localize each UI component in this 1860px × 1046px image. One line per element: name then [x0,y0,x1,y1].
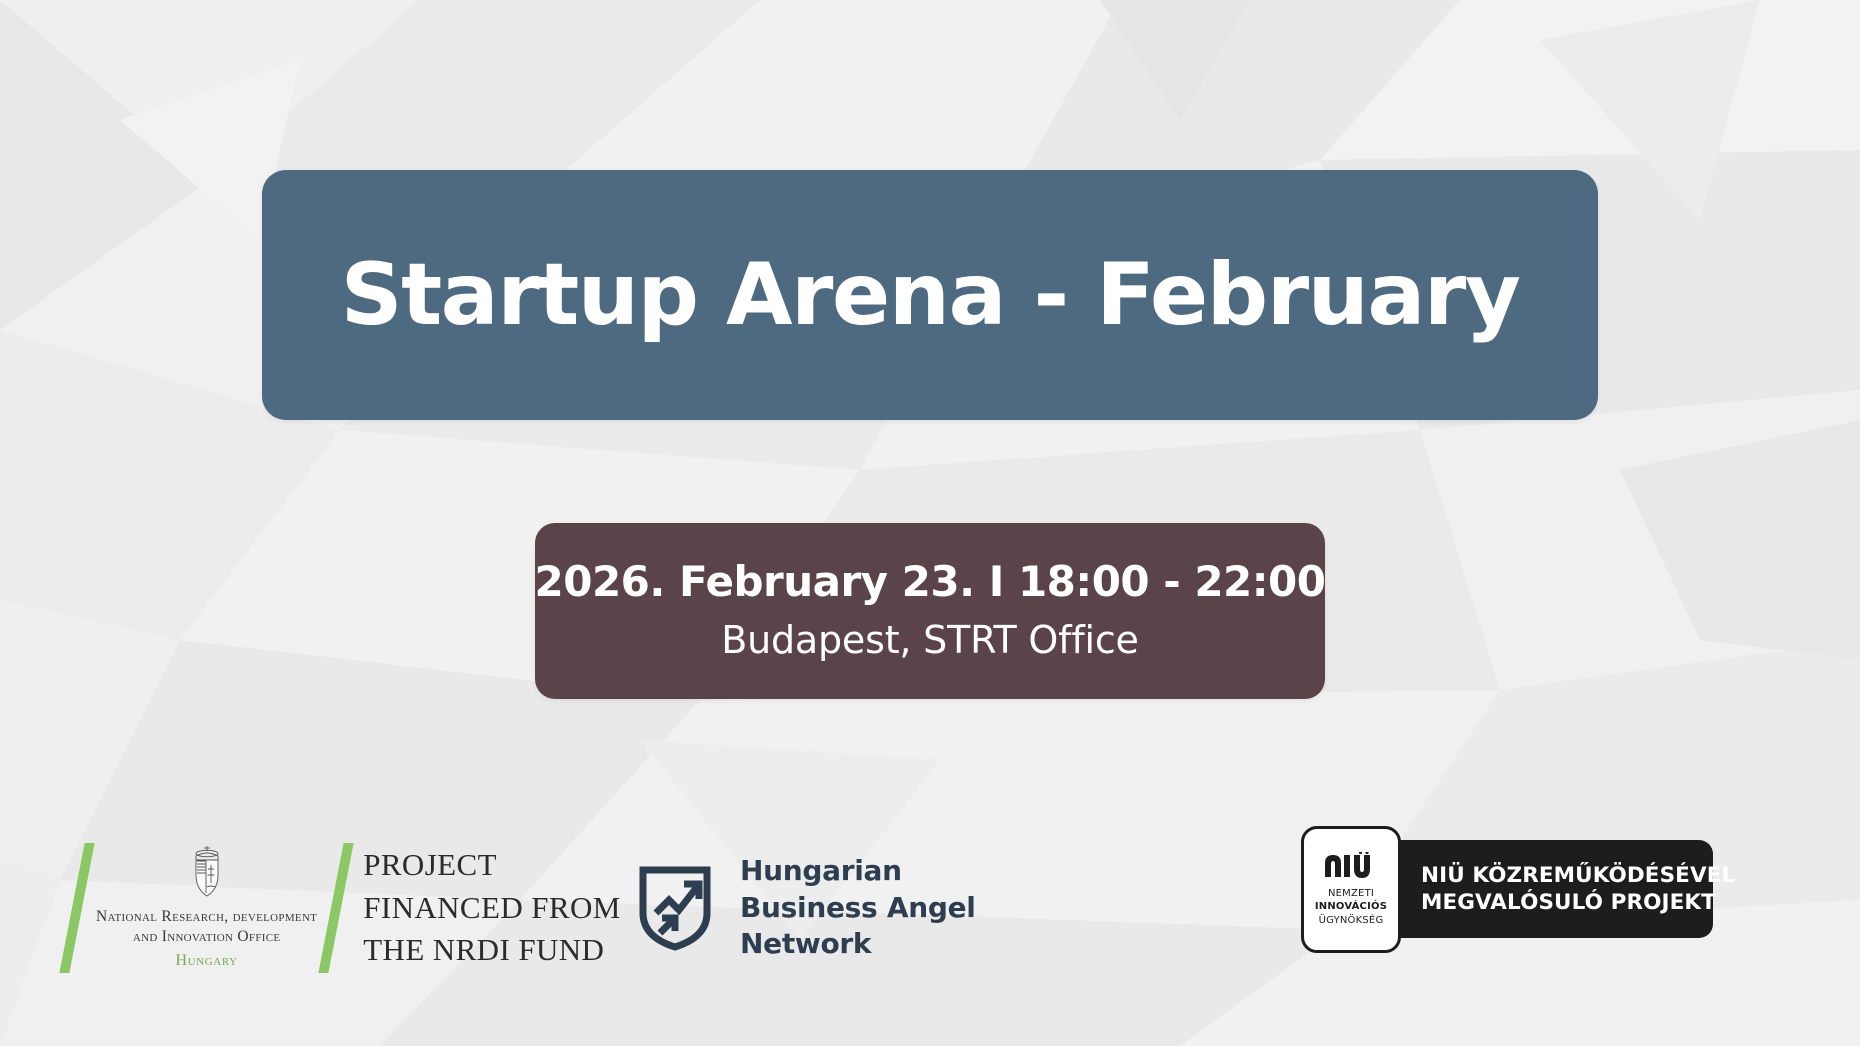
event-venue: Budapest, STRT Office [721,618,1138,664]
shield-growth-arrow-icon [638,865,712,951]
nrdi-office-logo: National Research, development and Innov… [72,828,572,988]
hban-line-3: Network [740,926,976,963]
nrdi-name-line-1: National Research, development [96,907,317,927]
hban-line-2: Business Angel [740,890,976,927]
niu-card-line-2: INNOVÁCIÓS [1315,900,1387,913]
sponsor-logo-strip: National Research, development and Innov… [0,818,1860,1008]
green-slash-icon-2 [319,843,354,973]
event-datetime: 2026. February 23. I 18:00 - 22:00 [535,558,1326,606]
fund-line-1: PROJECT [363,844,621,887]
niu-project-lockup: NIÜ KÖZREMŰKÖDÉSÉVEL MEGVALÓSULÓ PROJEKT… [1301,826,1713,953]
nrdi-logo-center: National Research, development and Innov… [96,843,317,972]
hban-line-1: Hungarian [740,853,976,890]
niu-wordmark-icon [1323,852,1379,878]
title-banner: Startup Arena - February [262,170,1598,420]
niu-bar-line-2: MEGVALÓSULÓ PROJEKT [1421,889,1716,916]
event-info-box: 2026. February 23. I 18:00 - 22:00 Budap… [535,523,1325,699]
niu-agency-card: NEMZETI INNOVÁCIÓS ÜGYNÖKSÉG [1301,826,1401,953]
hban-name-block: Hungarian Business Angel Network [740,853,976,964]
hungarian-coat-of-arms-icon [190,843,224,899]
nrdi-country-label: Hungary [175,950,237,972]
niu-project-bar: NIÜ KÖZREMŰKÖDÉSÉVEL MEGVALÓSULÓ PROJEKT [1385,840,1713,938]
fund-line-2: FINANCED FROM [363,887,621,930]
nrdi-fund-statement: PROJECT FINANCED FROM THE NRDI FUND [363,844,621,972]
hungarian-business-angel-network-logo: Hungarian Business Angel Network [638,838,976,978]
event-poster: Startup Arena - February 2026. February … [0,0,1860,1046]
page-title: Startup Arena - February [341,252,1520,338]
niu-bar-line-1: NIÜ KÖZREMŰKÖDÉSÉVEL [1421,862,1735,889]
niu-card-line-3: ÜGYNÖKSÉG [1319,914,1384,927]
fund-line-3: THE NRDI FUND [363,929,621,972]
nrdi-name-line-2: and Innovation Office [133,927,281,947]
niu-card-line-1: NEMZETI [1328,887,1374,900]
green-slash-icon [59,843,94,973]
